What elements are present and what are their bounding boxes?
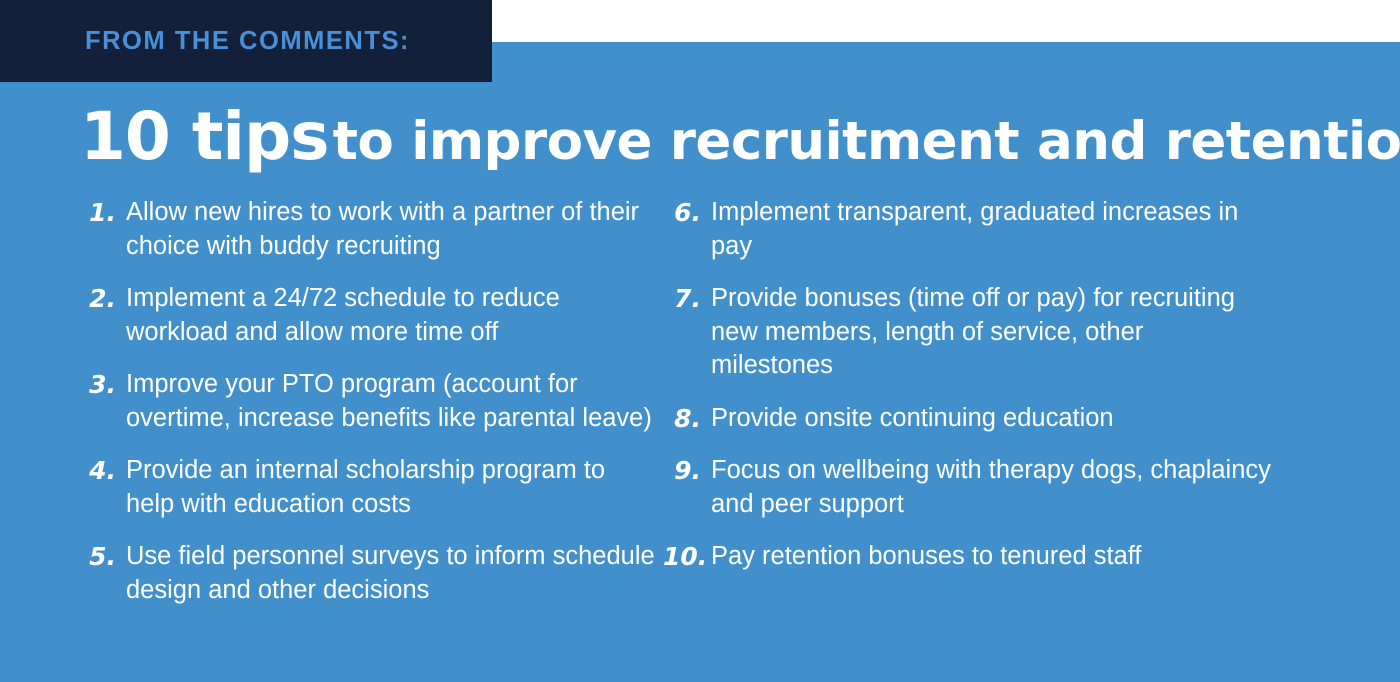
list-item-number: 9. [663,454,711,488]
page-title: 10 tipsto improve recruitment and retent… [80,104,1400,170]
list-item: 8. Provide onsite continuing education [663,402,1315,436]
list-item-number: 4. [78,454,126,488]
list-item: 4. Provide an internal scholarship progr… [78,454,655,521]
list-item-text: Focus on wellbeing with therapy dogs, ch… [711,454,1271,521]
list-item: 5. Use field personnel surveys to inform… [78,540,655,607]
list-item-text: Use field personnel surveys to inform sc… [126,540,655,607]
list-item: 2. Implement a 24/72 schedule to reduce … [78,282,655,349]
list-item-text: Allow new hires to work with a partner o… [126,196,655,263]
tips-column-right: 6. Implement transparent, graduated incr… [655,196,1315,593]
list-item-text: Provide an internal scholarship program … [126,454,655,521]
page-title-lead: 10 tips [80,98,329,175]
list-item-text: Implement a 24/72 schedule to reduce wor… [126,282,655,349]
list-item-number: 1. [78,196,126,230]
infographic-canvas: FROM THE COMMENTS: 10 tipsto improve rec… [0,0,1400,682]
eyebrow-label: FROM THE COMMENTS: [85,27,410,56]
list-item: 7. Provide bonuses (time off or pay) for… [663,282,1315,383]
list-item-number: 6. [663,196,711,230]
list-item-number: 10. [663,540,711,574]
list-item-number: 3. [78,368,126,402]
list-item-text: Improve your PTO program (account for ov… [126,368,655,435]
list-item-text: Implement transparent, graduated increas… [711,196,1271,263]
list-item-text: Pay retention bonuses to tenured staff [711,540,1142,574]
list-item: 3. Improve your PTO program (account for… [78,368,655,435]
list-item: 10. Pay retention bonuses to tenured sta… [663,540,1315,574]
eyebrow-banner: FROM THE COMMENTS: [0,0,492,82]
top-white-strip [492,0,1400,42]
list-item-text: Provide bonuses (time off or pay) for re… [711,282,1271,383]
page-title-rest: to improve recruitment and retention [333,111,1400,172]
list-item: 9. Focus on wellbeing with therapy dogs,… [663,454,1315,521]
list-item-number: 8. [663,402,711,436]
list-item-number: 7. [663,282,711,316]
tips-column-left: 1. Allow new hires to work with a partne… [0,196,655,626]
tips-columns: 1. Allow new hires to work with a partne… [0,196,1400,626]
list-item-number: 5. [78,540,126,574]
list-item-text: Provide onsite continuing education [711,402,1114,436]
list-item: 1. Allow new hires to work with a partne… [78,196,655,263]
list-item-number: 2. [78,282,126,316]
list-item: 6. Implement transparent, graduated incr… [663,196,1315,263]
